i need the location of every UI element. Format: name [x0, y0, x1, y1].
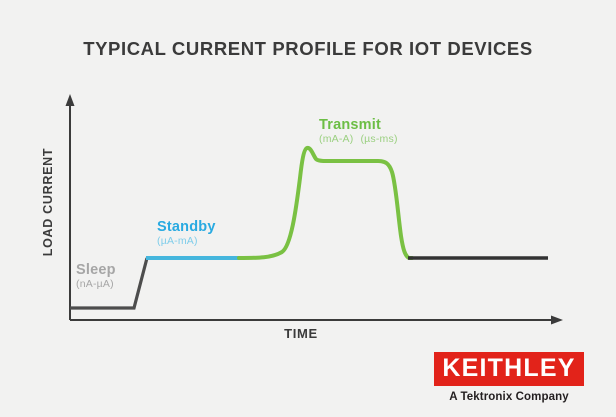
annotation-standby-label: Standby [157, 219, 216, 235]
annotation-transmit-units: (mA-A) [319, 133, 353, 145]
chart-figure: TYPICAL CURRENT PROFILE FOR IOT DEVICES … [0, 0, 616, 417]
annotation-transmit-label: Transmit [319, 117, 398, 133]
annotation-transmit-duration: (µs-ms) [360, 133, 397, 145]
annotation-standby: Standby (µA-mA) [157, 219, 216, 248]
annotation-sleep: Sleep (nA-µA) [76, 262, 116, 291]
keithley-brand-mark: KEITHLEY [434, 352, 584, 386]
annotation-sleep-label: Sleep [76, 262, 116, 278]
waveform-transmit-segment [239, 148, 412, 258]
annotation-transmit: Transmit (mA-A)(µs-ms) [319, 117, 398, 146]
keithley-tagline: A Tektronix Company [434, 391, 584, 403]
annotation-sleep-units: (nA-µA) [76, 279, 116, 291]
annotation-transmit-units-line: (mA-A)(µs-ms) [319, 134, 398, 146]
keithley-logo: KEITHLEY A Tektronix Company [434, 352, 584, 403]
annotation-standby-units: (µA-mA) [157, 236, 216, 248]
